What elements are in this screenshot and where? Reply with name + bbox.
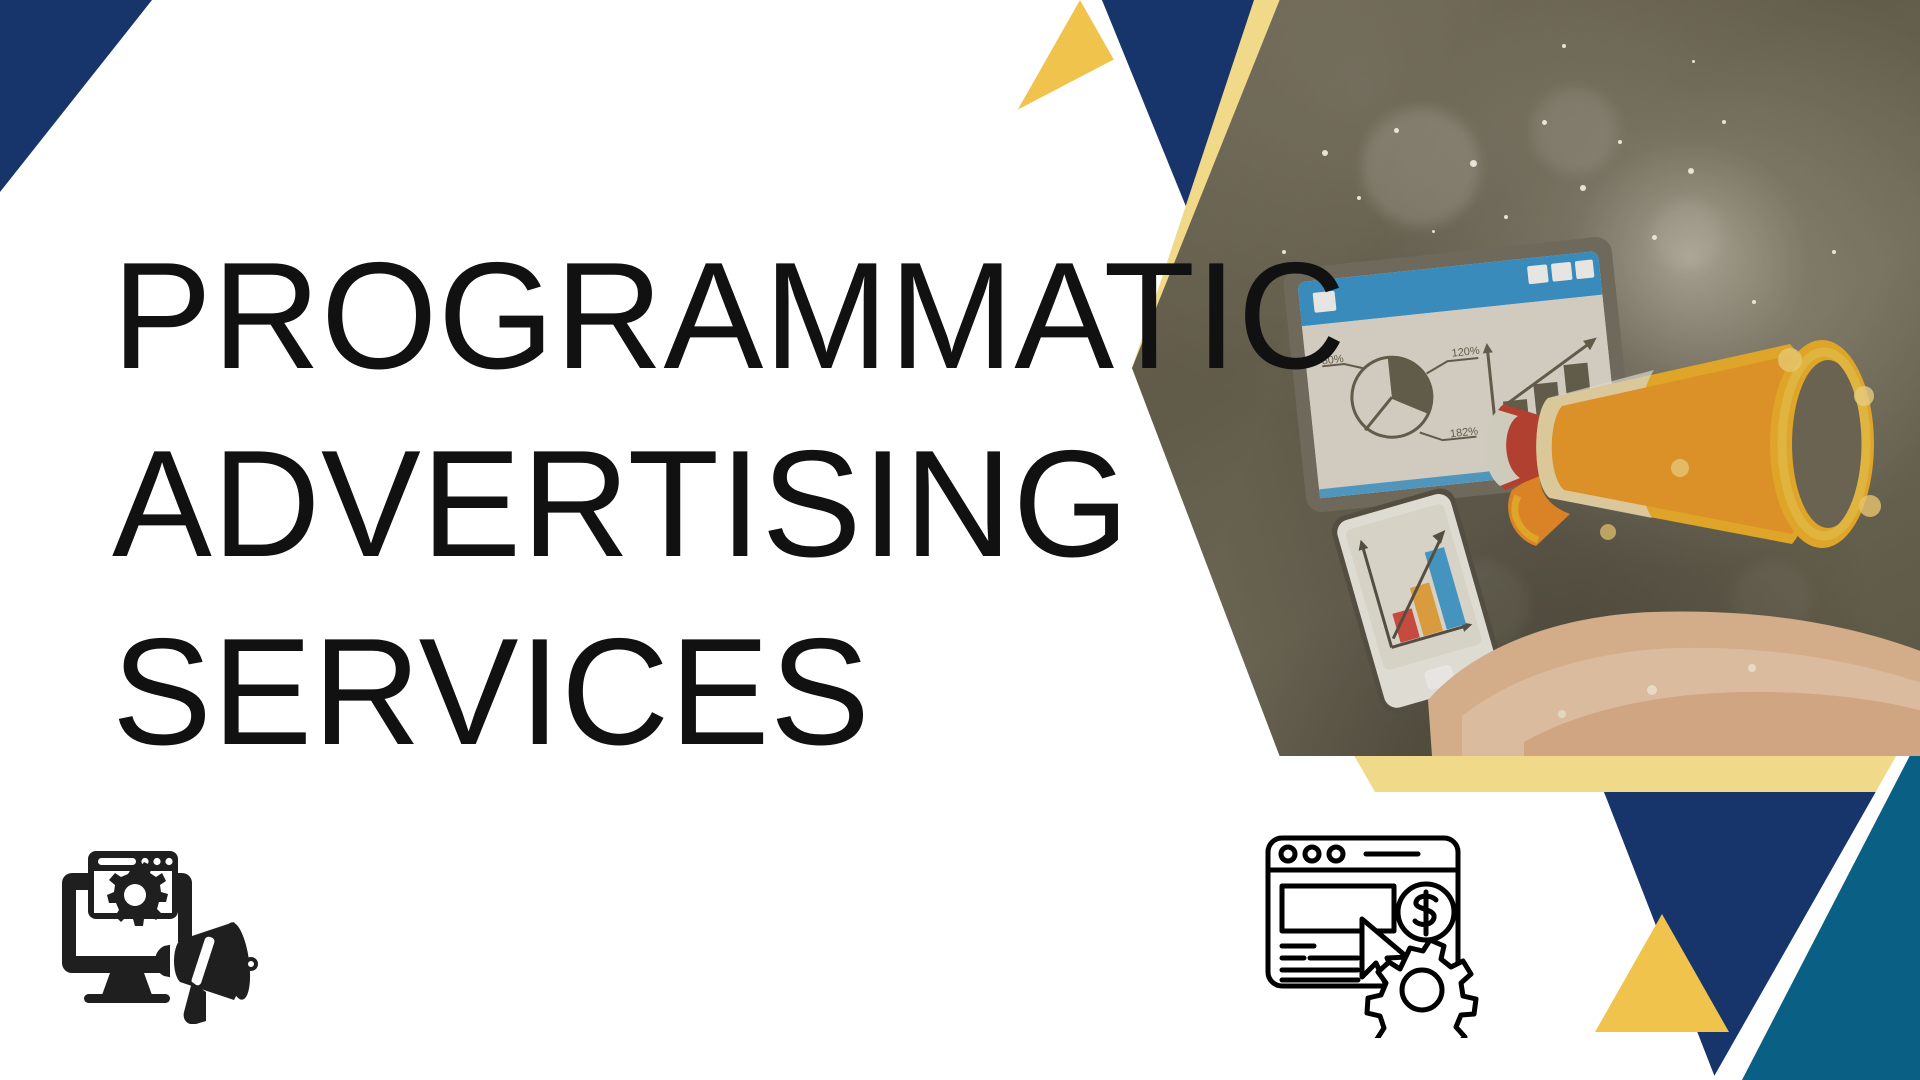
headline-line-1: PROGRAMMATIC	[112, 222, 1346, 410]
window-dot-3	[1329, 847, 1343, 861]
window-dot-1	[1281, 847, 1295, 861]
headline-line-3: SERVICES	[112, 598, 1346, 786]
browser-cost-gear-icon	[1262, 824, 1486, 1038]
slide-canvas: 80% 120% 182%	[0, 0, 1920, 1080]
browser-dot-3	[165, 858, 172, 865]
browser-dot-2	[153, 858, 160, 865]
ad-banner-box	[1282, 886, 1394, 931]
monitor-megaphone-icon	[62, 838, 262, 1024]
monitor-base	[84, 994, 170, 1003]
browser-address-bar	[98, 858, 136, 865]
headline-line-2: ADVERTISING	[112, 410, 1346, 598]
page-title: PROGRAMMATIC ADVERTISING SERVICES	[112, 222, 1365, 786]
window-dot-2	[1305, 847, 1319, 861]
monitor-stand	[102, 973, 152, 995]
